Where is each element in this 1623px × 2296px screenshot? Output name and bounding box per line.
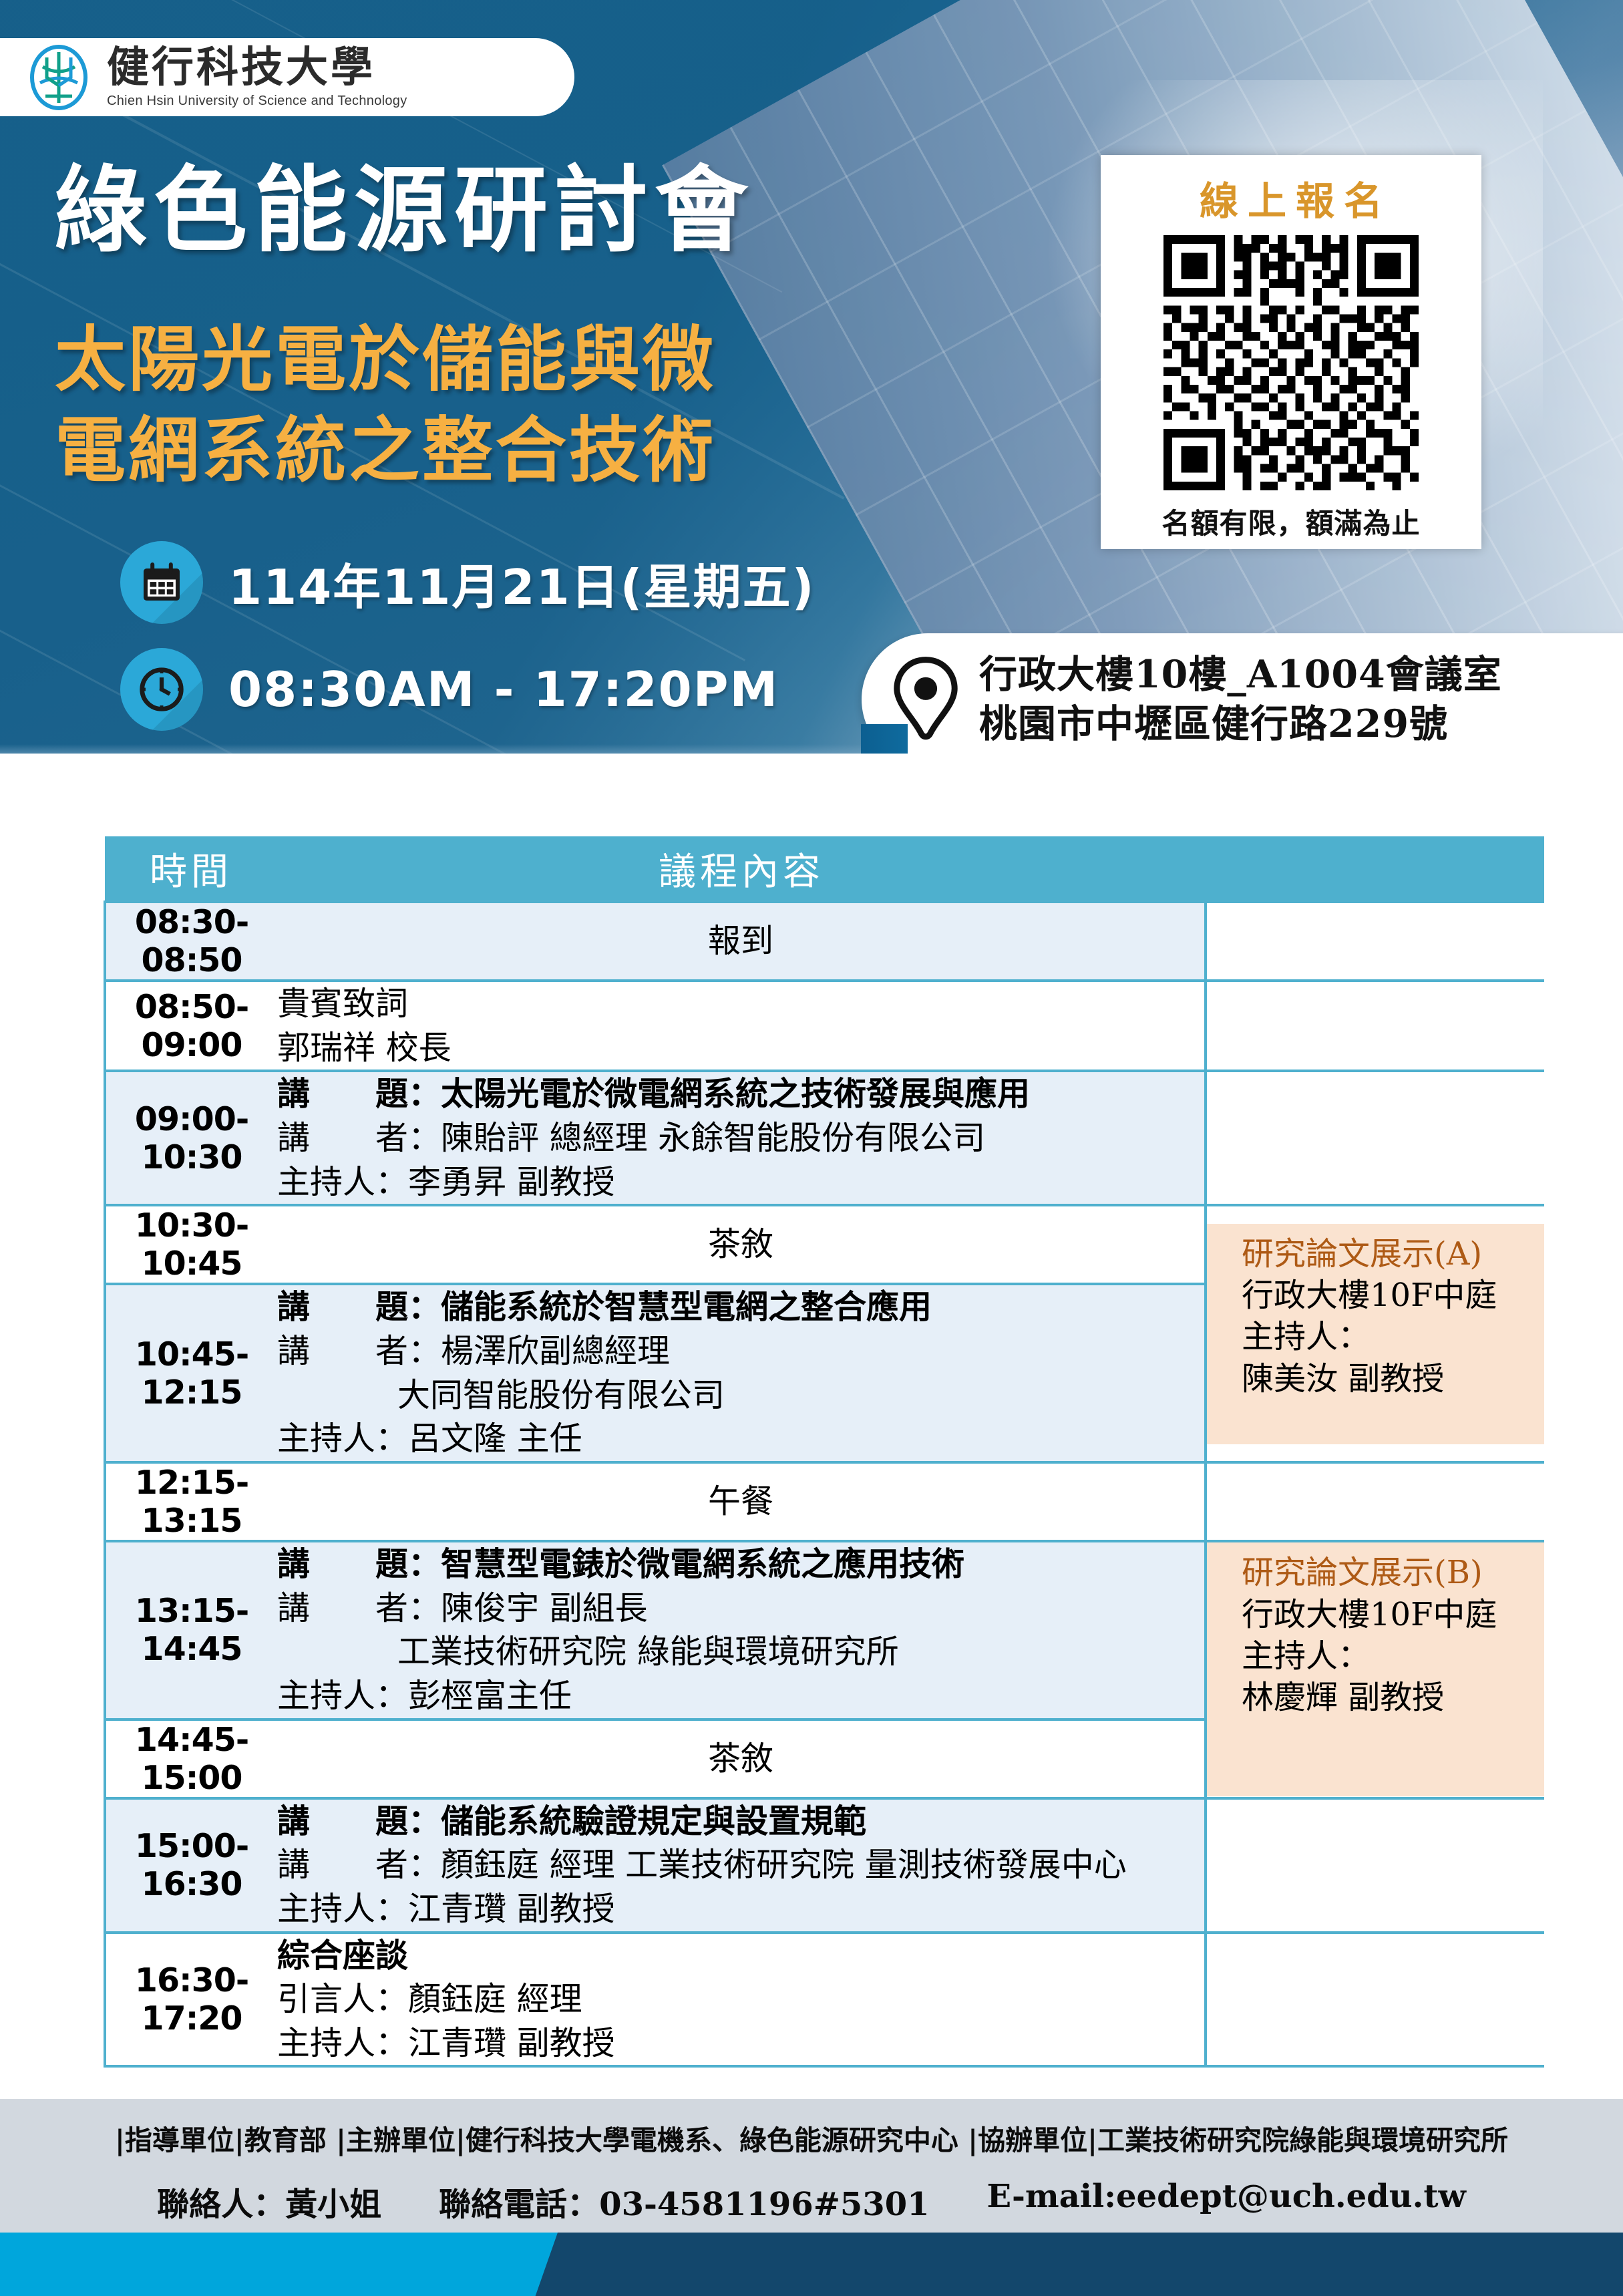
agenda-row: 16:30-17:20綜合座談引言人：顏鈺庭 經理主持人：江青瓚 副教授	[105, 1933, 1544, 2067]
agenda-row: 08:50-09:00貴賓致詞郭瑞祥 校長	[105, 981, 1544, 1071]
agenda-content-line: 講 題：儲能系統於智慧型電網之整合應用	[277, 1285, 1204, 1329]
poster-subtitle-line2: 電網系統之整合技術	[55, 405, 870, 496]
agenda-row-time: 08:50-09:00	[105, 981, 277, 1071]
agenda-row-time: 10:30-10:45	[105, 1205, 277, 1284]
panel-venue: 行政大樓10F中庭	[1242, 1594, 1544, 1635]
contact-email[interactable]: E-mail:eedept@uch.edu.tw	[987, 2178, 1466, 2225]
agenda-col-side	[1206, 836, 1544, 902]
contact-person: 聯絡人：黃小姐	[157, 2178, 381, 2225]
panel-host-label: 主持人：	[1242, 1635, 1544, 1677]
event-time: 08:30AM - 17:20PM	[228, 661, 779, 717]
agenda-content-line: 主持人：江青瓚 副教授	[277, 1887, 1204, 1931]
panel-host: 林慶輝 副教授	[1242, 1677, 1544, 1718]
agenda-row-content: 貴賓致詞郭瑞祥 校長	[277, 981, 1206, 1071]
agenda-content-line: 講 者：陳貽評 總經理 永餘智能股份有限公司	[277, 1116, 1204, 1160]
side-empty	[1206, 981, 1544, 1071]
agenda-row-time: 16:30-17:20	[105, 1933, 277, 2067]
agenda-row-time: 08:30-08:50	[105, 902, 277, 981]
poster-subtitle: 太陽光電於儲能與微 電網系統之整合技術	[55, 314, 870, 495]
agenda-row-content: 午餐	[277, 1462, 1206, 1541]
contact-phone: 聯絡電話：03-4581196#5301	[439, 2178, 929, 2225]
agenda-row-time: 09:00-10:30	[105, 1071, 277, 1205]
online-registration-box[interactable]: 線上報名	[1101, 155, 1481, 549]
side-empty	[1206, 1933, 1544, 2067]
agenda-row-content: 綜合座談引言人：顏鈺庭 經理主持人：江青瓚 副教授	[277, 1933, 1206, 2067]
agenda-content-line: 主持人：李勇昇 副教授	[277, 1160, 1204, 1204]
agenda-body: 08:30-08:50報到08:50-09:00貴賓致詞郭瑞祥 校長09:00-…	[105, 902, 1544, 2066]
agenda-row: 09:00-10:30講 題：太陽光電於微電網系統之技術發展與應用講 者：陳貽評…	[105, 1071, 1544, 1205]
agenda-row-time: 13:15-14:45	[105, 1541, 277, 1719]
agenda-content-line: 講 者：陳俊宇 副組長	[277, 1587, 1204, 1631]
agenda-table-wrapper: 時間 議程內容 08:30-08:50報到08:50-09:00貴賓致詞郭瑞祥 …	[104, 836, 1543, 2068]
agenda-content-line: 引言人：顏鈺庭 經理	[277, 1977, 1204, 2021]
agenda-row: 15:00-16:30講 題：儲能系統驗證規定與設置規範講 者：顏鈺庭 經理 工…	[105, 1798, 1544, 1933]
agenda-content-line: 主持人：江青瓚 副教授	[277, 2021, 1204, 2066]
university-name-en: Chien Hsin University of Science and Tec…	[107, 94, 407, 109]
organizers-line: |指導單位|教育部 |主辦單位|健行科技大學電機系、綠色能源研究中心 |協辦單位…	[115, 2118, 1508, 2158]
calendar-icon	[120, 541, 203, 624]
registration-note: 名額有限，額滿為止	[1161, 501, 1420, 542]
agenda-col-content: 議程內容	[277, 836, 1206, 902]
event-date-row: 114年11月21日(星期五)	[120, 541, 816, 624]
agenda-content-line: 講 題：太陽光電於微電網系統之技術發展與應用	[277, 1072, 1204, 1116]
agenda-row-time: 12:15-13:15	[105, 1462, 277, 1541]
agenda-content-line: 主持人：彭桱富主任	[277, 1674, 1204, 1718]
agenda-content-line: 大同智能股份有限公司	[277, 1373, 1204, 1418]
research-poster-panel: 研究論文展示(B)行政大樓10F中庭主持人：林慶輝 副教授	[1206, 1541, 1544, 1798]
agenda-row-content: 講 題：智慧型電錶於微電網系統之應用技術講 者：陳俊宇 副組長工業技術研究院 綠…	[277, 1541, 1206, 1719]
agenda-row-content: 講 題：儲能系統驗證規定與設置規範講 者：顏鈺庭 經理 工業技術研究院 量測技術…	[277, 1798, 1206, 1933]
university-name-cn: 健行科技大學	[107, 46, 407, 88]
agenda-row-content: 茶敘	[277, 1719, 1206, 1798]
agenda-row: 10:30-10:45茶敘研究論文展示(A)行政大樓10F中庭主持人：陳美汝 副…	[105, 1205, 1544, 1284]
agenda-row-content: 茶敘	[277, 1205, 1206, 1284]
agenda-row-time: 15:00-16:30	[105, 1798, 277, 1933]
event-date: 114年11月21日(星期五)	[228, 548, 816, 618]
agenda-row-content: 講 題：儲能系統於智慧型電網之整合應用講 者：楊澤欣副總經理大同智能股份有限公司…	[277, 1284, 1206, 1462]
university-emblem-icon	[25, 44, 92, 111]
research-poster-panel: 研究論文展示(A)行政大樓10F中庭主持人：陳美汝 副教授	[1206, 1205, 1544, 1462]
venue-line1: 行政大樓10樓_A1004會議室	[979, 650, 1502, 699]
agenda-row: 13:15-14:45講 題：智慧型電錶於微電網系統之應用技術講 者：陳俊宇 副…	[105, 1541, 1544, 1719]
bottom-decor-bar	[0, 2233, 1623, 2296]
panel-title: 研究論文展示(A)	[1242, 1233, 1544, 1275]
side-empty	[1206, 1071, 1544, 1205]
agenda-content-line: 講 題：儲能系統驗證規定與設置規範	[277, 1800, 1204, 1844]
poster-header: 健行科技大學 Chien Hsin University of Science …	[0, 0, 1623, 754]
clock-icon	[120, 648, 203, 731]
agenda-content-line: 郭瑞祥 校長	[277, 1026, 1204, 1070]
side-empty	[1206, 1798, 1544, 1933]
agenda-content-line: 講 者：楊澤欣副總經理	[277, 1329, 1204, 1373]
poster-title: 綠色能源研討會	[53, 164, 755, 257]
agenda-table: 時間 議程內容 08:30-08:50報到08:50-09:00貴賓致詞郭瑞祥 …	[104, 836, 1544, 2068]
side-empty	[1206, 902, 1544, 981]
venue-text: 行政大樓10樓_A1004會議室 桃園市中壢區健行路229號	[979, 650, 1502, 749]
university-logo-pill: 健行科技大學 Chien Hsin University of Science …	[0, 38, 574, 116]
registration-title: 線上報名	[1190, 170, 1392, 226]
panel-title: 研究論文展示(B)	[1242, 1552, 1544, 1593]
agenda-header-row: 時間 議程內容	[105, 836, 1544, 902]
panel-host: 陳美汝 副教授	[1242, 1358, 1544, 1400]
agenda-row-time: 14:45-15:00	[105, 1719, 277, 1798]
agenda-content-line: 綜合座談	[277, 1934, 1204, 1978]
contact-line: 聯絡人：黃小姐 聯絡電話：03-4581196#5301 E-mail:eede…	[157, 2178, 1466, 2225]
agenda-content-line: 工業技術研究院 綠能與環境研究所	[277, 1630, 1204, 1674]
poster-subtitle-line1: 太陽光電於儲能與微	[55, 314, 870, 405]
venue-line2: 桃園市中壢區健行路229號	[979, 699, 1502, 749]
side-empty	[1206, 1462, 1544, 1541]
poster-footer: |指導單位|教育部 |主辦單位|健行科技大學電機系、綠色能源研究中心 |協辦單位…	[0, 2099, 1623, 2233]
agenda-row: 08:30-08:50報到	[105, 902, 1544, 981]
agenda-row-content: 講 題：太陽光電於微電網系統之技術發展與應用講 者：陳貽評 總經理 永餘智能股份…	[277, 1071, 1206, 1205]
agenda-row-content: 報到	[277, 902, 1206, 981]
panel-host-label: 主持人：	[1242, 1316, 1544, 1357]
venue-pill: 行政大樓10樓_A1004會議室 桃園市中壢區健行路229號	[862, 633, 1623, 754]
agenda-row-time: 10:45-12:15	[105, 1284, 277, 1462]
agenda-content-line: 講 題：智慧型電錶於微電網系統之應用技術	[277, 1542, 1204, 1587]
event-time-row: 08:30AM - 17:20PM	[120, 648, 779, 731]
agenda-col-time: 時間	[105, 836, 277, 902]
agenda-content-line: 貴賓致詞	[277, 982, 1204, 1026]
bottom-bar-cyan	[0, 2233, 558, 2296]
agenda-row: 12:15-13:15午餐	[105, 1462, 1544, 1541]
agenda-content-line: 講 者：顏鈺庭 經理 工業技術研究院 量測技術發展中心	[277, 1843, 1204, 1887]
panel-venue: 行政大樓10F中庭	[1242, 1275, 1544, 1316]
qr-code-icon[interactable]	[1163, 235, 1419, 490]
agenda-content-line: 主持人：呂文隆 主任	[277, 1417, 1204, 1461]
